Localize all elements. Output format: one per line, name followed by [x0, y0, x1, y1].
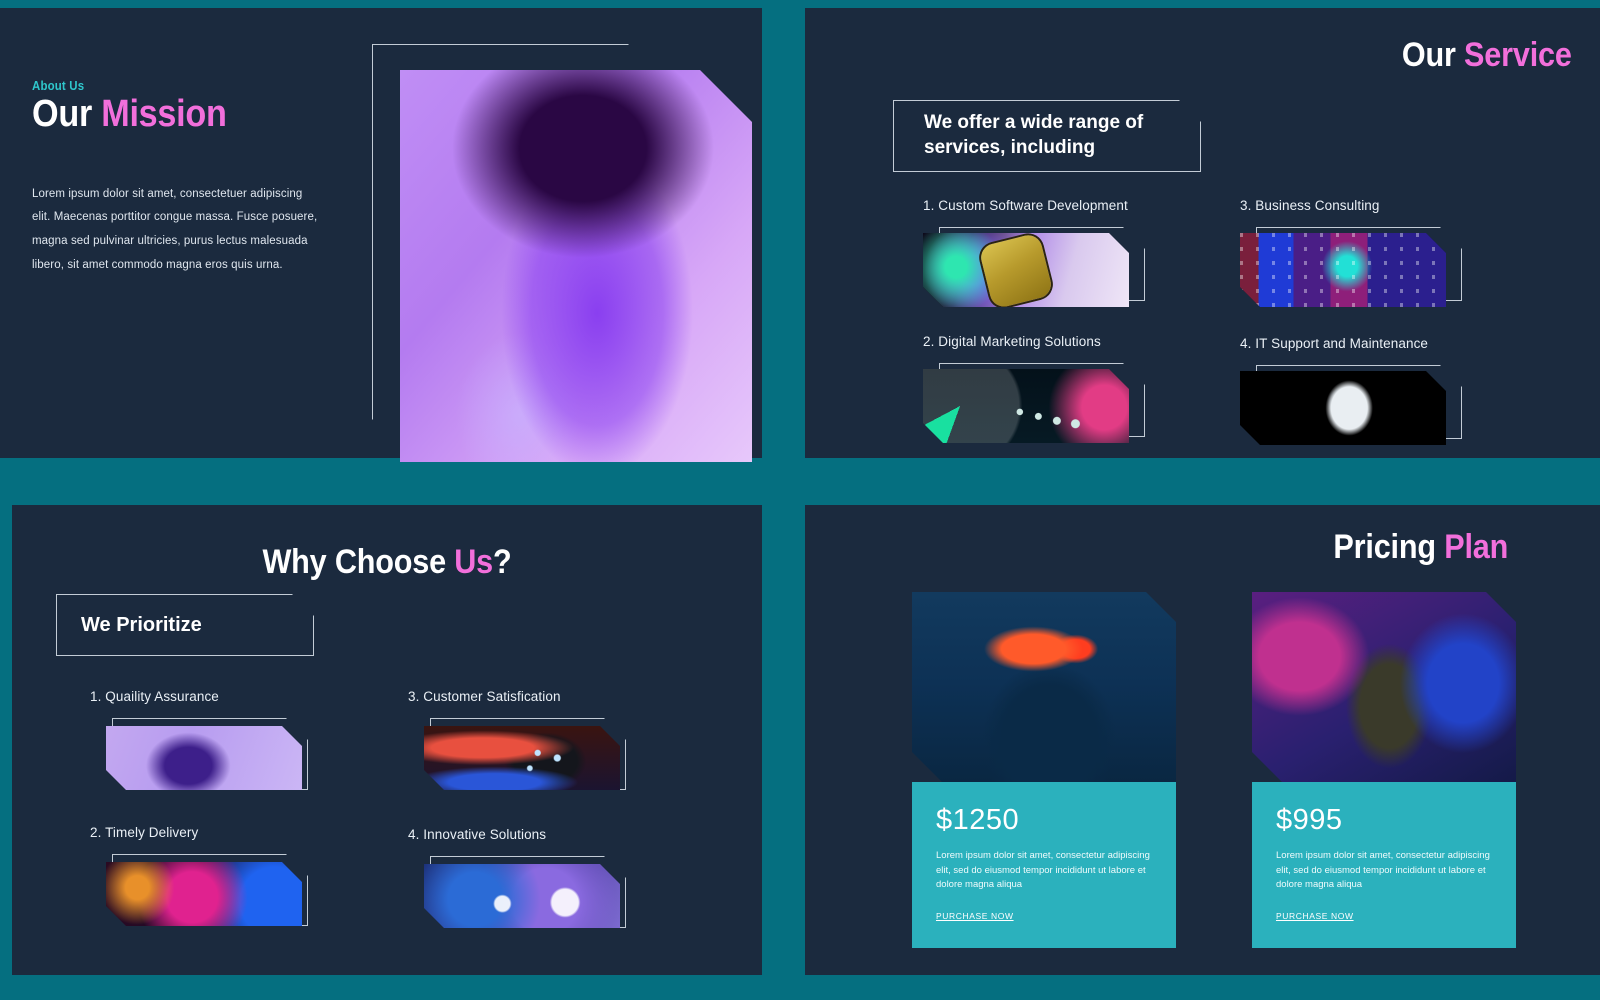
service-item-1[interactable]: 1. Custom Software Development — [923, 198, 1145, 307]
why-item-2[interactable]: 2. Timely Delivery — [90, 825, 318, 934]
service-item-2-image — [923, 369, 1129, 443]
mission-paragraph: Lorem ipsum dolor sit amet, consectetuer… — [32, 183, 322, 277]
mission-title: Our Mission — [32, 95, 293, 135]
mission-title-white: Our — [32, 93, 101, 135]
service-item-4-label: 4. IT Support and Maintenance — [1240, 336, 1462, 351]
why-item-1-label: 1. Quaility Assurance — [90, 689, 318, 704]
service-item-3[interactable]: 3. Business Consulting — [1240, 198, 1462, 307]
mission-title-accent: Mission — [101, 93, 226, 135]
mission-photo — [400, 70, 752, 462]
service-item-1-label: 1. Custom Software Development — [923, 198, 1145, 213]
service-item-3-label: 3. Business Consulting — [1240, 198, 1462, 213]
pricing-card-2-purchase-link[interactable]: PURCHASE NOW — [1276, 911, 1354, 921]
why-title-suffix: ? — [493, 543, 512, 581]
why-title-accent: Us — [454, 543, 493, 581]
service-item-4-thumb-wrap — [1240, 365, 1462, 445]
service-item-2[interactable]: 2. Digital Marketing Solutions — [923, 334, 1145, 443]
service-item-1-thumb-wrap — [923, 227, 1145, 307]
pricing-card-2-description: Lorem ipsum dolor sit amet, consectetur … — [1276, 849, 1492, 893]
pricing-card-1-body: $1250 Lorem ipsum dolor sit amet, consec… — [912, 782, 1176, 948]
service-item-3-thumb-wrap — [1240, 227, 1462, 307]
service-item-2-label: 2. Digital Marketing Solutions — [923, 334, 1145, 349]
why-item-2-image — [106, 862, 302, 926]
why-item-2-thumb-wrap — [90, 854, 318, 934]
pricing-title: Pricing Plan — [1333, 528, 1508, 567]
why-title: Why Choose Us? — [262, 543, 511, 582]
pricing-title-white: Pricing — [1333, 528, 1444, 566]
service-item-4[interactable]: 4. IT Support and Maintenance — [1240, 336, 1462, 445]
service-title-white: Our — [1402, 36, 1464, 74]
service-title: Our Service — [1402, 36, 1572, 75]
why-item-3-thumb-wrap — [408, 718, 636, 798]
mission-eyebrow: About Us — [32, 78, 287, 93]
why-item-3[interactable]: 3. Customer Satisfication — [408, 689, 636, 798]
why-callout-box: We Prioritize — [56, 594, 314, 656]
service-title-accent: Service — [1464, 36, 1572, 74]
pricing-title-accent: Plan — [1444, 528, 1508, 566]
pricing-card-2-body: $995 Lorem ipsum dolor sit amet, consect… — [1252, 782, 1516, 948]
service-item-1-image — [923, 233, 1129, 307]
service-item-4-image — [1240, 371, 1446, 445]
service-item-3-image — [1240, 233, 1446, 307]
service-callout-box: We offer a wide range of services, inclu… — [893, 100, 1201, 172]
pricing-card-1-description: Lorem ipsum dolor sit amet, consectetur … — [936, 849, 1152, 893]
pricing-card-1[interactable]: $1250 Lorem ipsum dolor sit amet, consec… — [912, 592, 1176, 948]
why-item-2-label: 2. Timely Delivery — [90, 825, 318, 840]
pricing-card-2-photo — [1252, 592, 1516, 782]
slide-canvas: About Us Our Mission Lorem ipsum dolor s… — [0, 0, 1600, 1000]
service-item-2-thumb-wrap — [923, 363, 1145, 443]
why-item-4[interactable]: 4. Innovative Solutions — [408, 827, 636, 936]
pricing-card-2-amount: $995 — [1276, 804, 1492, 837]
why-item-4-thumb-wrap — [408, 856, 636, 936]
why-title-white: Why Choose — [262, 543, 454, 581]
why-item-4-image — [424, 864, 620, 928]
why-item-1-thumb-wrap — [90, 718, 318, 798]
why-item-3-image — [424, 726, 620, 790]
why-item-3-label: 3. Customer Satisfication — [408, 689, 636, 704]
why-item-4-label: 4. Innovative Solutions — [408, 827, 636, 842]
mission-text-block: About Us Our Mission Lorem ipsum dolor s… — [32, 78, 322, 277]
why-item-1-image — [106, 726, 302, 790]
pricing-card-1-photo — [912, 592, 1176, 782]
panel-our-mission: About Us Our Mission Lorem ipsum dolor s… — [0, 8, 762, 458]
why-item-1[interactable]: 1. Quaility Assurance — [90, 689, 318, 798]
pricing-card-1-amount: $1250 — [936, 804, 1152, 837]
pricing-card-2[interactable]: $995 Lorem ipsum dolor sit amet, consect… — [1252, 592, 1516, 948]
panel-our-service: Our Service We offer a wide range of ser… — [805, 8, 1600, 458]
pricing-card-1-purchase-link[interactable]: PURCHASE NOW — [936, 911, 1014, 921]
why-callout-text: We Prioritize — [57, 612, 202, 638]
service-callout-text: We offer a wide range of services, inclu… — [894, 111, 1200, 160]
